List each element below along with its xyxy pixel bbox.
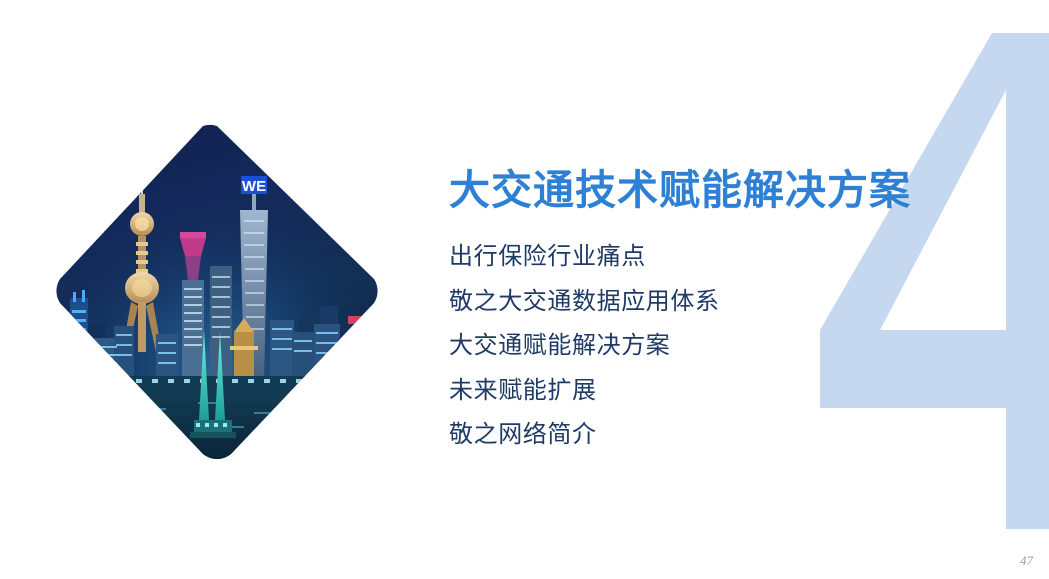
page-title: 大交通技术赋能解决方案 xyxy=(449,168,949,213)
page-number: 47 xyxy=(1020,553,1033,569)
agenda-item-1[interactable]: 出行保险行业痛点 xyxy=(449,235,949,280)
slide-image-diamond: WE xyxy=(48,120,386,462)
slide-content-block: 大交通技术赋能解决方案 出行保险行业痛点 敬之大交通数据应用体系 大交通赋能解决… xyxy=(449,168,949,458)
svg-text:WE: WE xyxy=(242,178,266,195)
agenda-list: 出行保险行业痛点 敬之大交通数据应用体系 大交通赋能解决方案 未来赋能扩展 敬之… xyxy=(449,235,949,458)
agenda-item-4[interactable]: 未来赋能扩展 xyxy=(449,369,949,414)
agenda-item-2[interactable]: 敬之大交通数据应用体系 xyxy=(449,280,949,325)
agenda-item-3[interactable]: 大交通赋能解决方案 xyxy=(449,324,949,369)
agenda-item-5[interactable]: 敬之网络简介 xyxy=(449,413,949,458)
presentation-slide: WE xyxy=(0,0,1049,579)
